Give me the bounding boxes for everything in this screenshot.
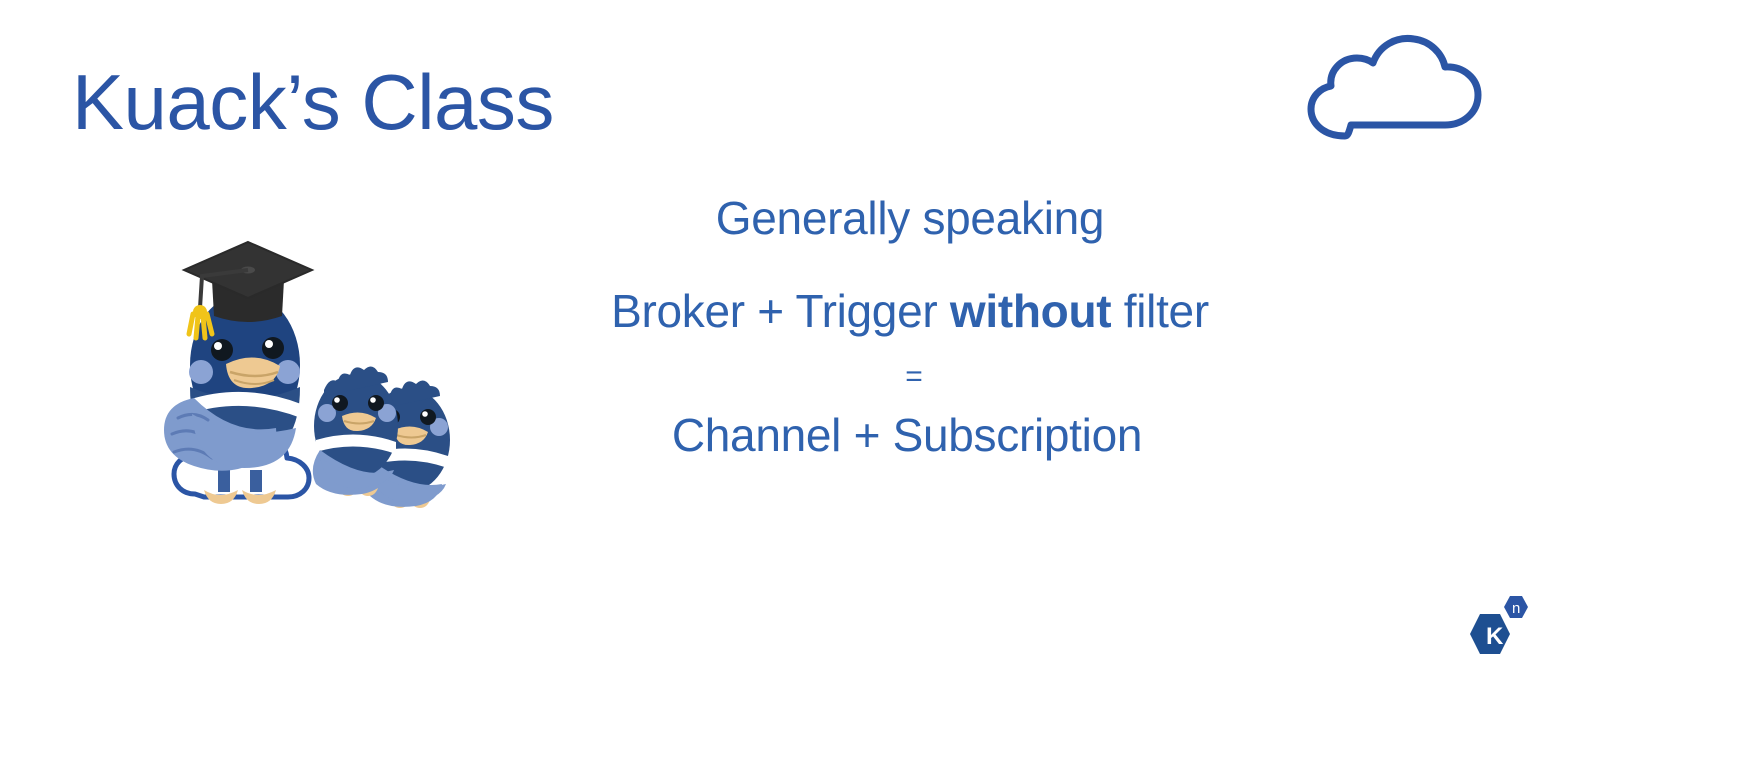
knative-hexagon-icon: K (1470, 614, 1510, 654)
body-line-equation-left: Broker + Trigger without filter (560, 288, 1260, 334)
slide-body-text: Generally speaking Broker + Trigger with… (560, 195, 1260, 458)
equation-emphasis-without: without (950, 285, 1111, 337)
chick-bird-middle (313, 366, 398, 496)
equation-left-suffix: filter (1111, 285, 1209, 337)
body-line-generally-speaking: Generally speaking (560, 195, 1260, 241)
graduate-bird-mascot-illustration (160, 222, 505, 522)
knative-badge-icon: n (1504, 596, 1528, 618)
body-line-equation-right: Channel + Subscription (554, 412, 1260, 458)
slide-canvas: Kuack’s Class (0, 0, 1742, 762)
cloud-outline-icon (1305, 33, 1485, 141)
knative-logo: K n (1452, 592, 1532, 664)
equals-sign: = (568, 362, 1260, 392)
knative-badge-letter: n (1512, 600, 1520, 617)
page-title: Kuack’s Class (72, 62, 554, 144)
knative-logo-letter: K (1486, 623, 1504, 650)
equation-left-prefix: Broker + Trigger (611, 285, 950, 337)
